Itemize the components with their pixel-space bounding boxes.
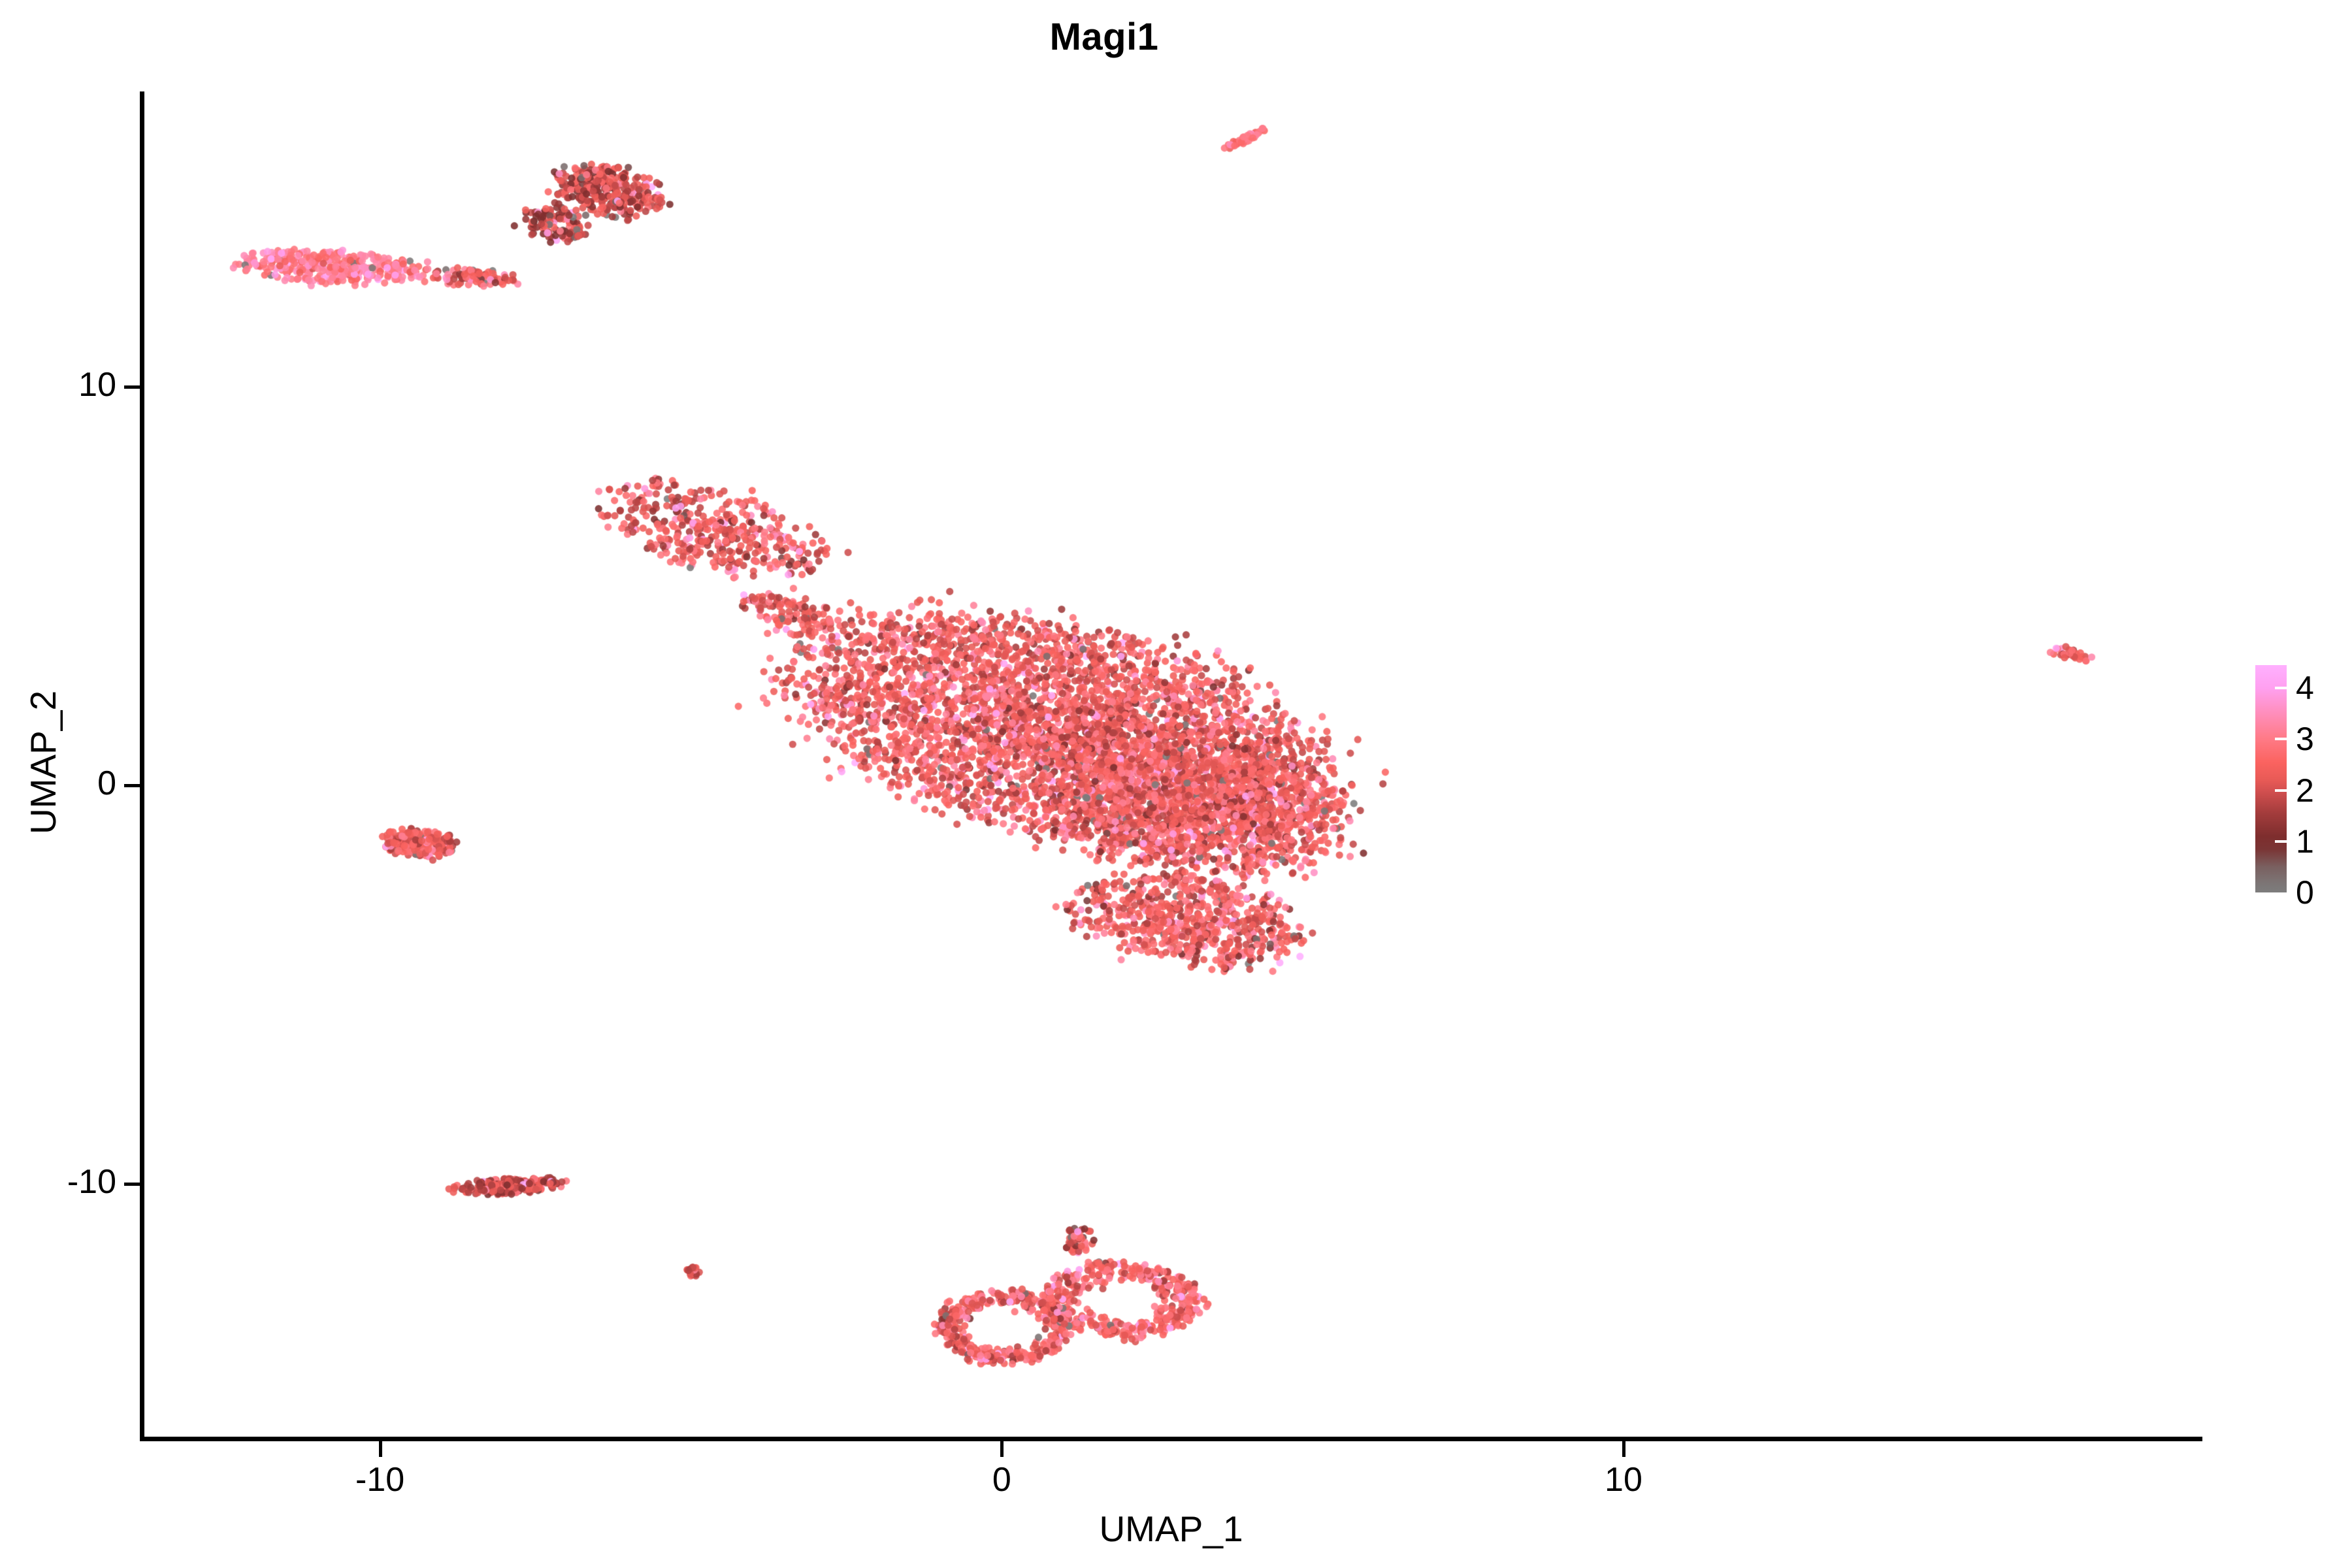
x-axis-label: UMAP_1 [140,1508,2202,1550]
y-tick-mark [124,1183,140,1186]
colorbar-legend: 43210 [2255,665,2347,894]
x-tick-label: 0 [923,1462,1080,1498]
x-tick-mark [379,1441,382,1457]
y-tick-mark [124,784,140,787]
scatter-point-layer [144,91,2202,1439]
colorbar-tick-label: 2 [2296,774,2314,807]
colorbar-tick-label: 3 [2296,723,2314,755]
colorbar-tick-mark [2275,687,2287,689]
colorbar-tick-mark [2275,840,2287,843]
page-title: Magi1 [0,18,2208,56]
colorbar-tick-mark [2275,789,2287,792]
colorbar-tick-mark [2275,738,2287,740]
umap-feature-plot: Magi1 -10010 100-10 UMAP_1 UMAP_2 43210 [0,0,2352,1568]
colorbar-tick-label: 1 [2296,825,2314,858]
y-axis-label: UMAP_2 [22,403,64,1122]
y-tick-label: 10 [0,367,116,403]
x-axis-line [140,1437,2202,1441]
x-tick-label: -10 [302,1462,459,1498]
y-tick-label: -10 [0,1164,116,1200]
y-axis-line [140,91,144,1441]
x-tick-label: 10 [1545,1462,1702,1498]
colorbar-tick-label: 0 [2296,876,2314,909]
colorbar-tick-label: 4 [2296,672,2314,704]
colorbar-gradient [2255,665,2287,892]
x-tick-mark [1622,1441,1625,1457]
x-tick-mark [1000,1441,1004,1457]
y-tick-mark [124,385,140,389]
plot-panel [144,91,2202,1439]
